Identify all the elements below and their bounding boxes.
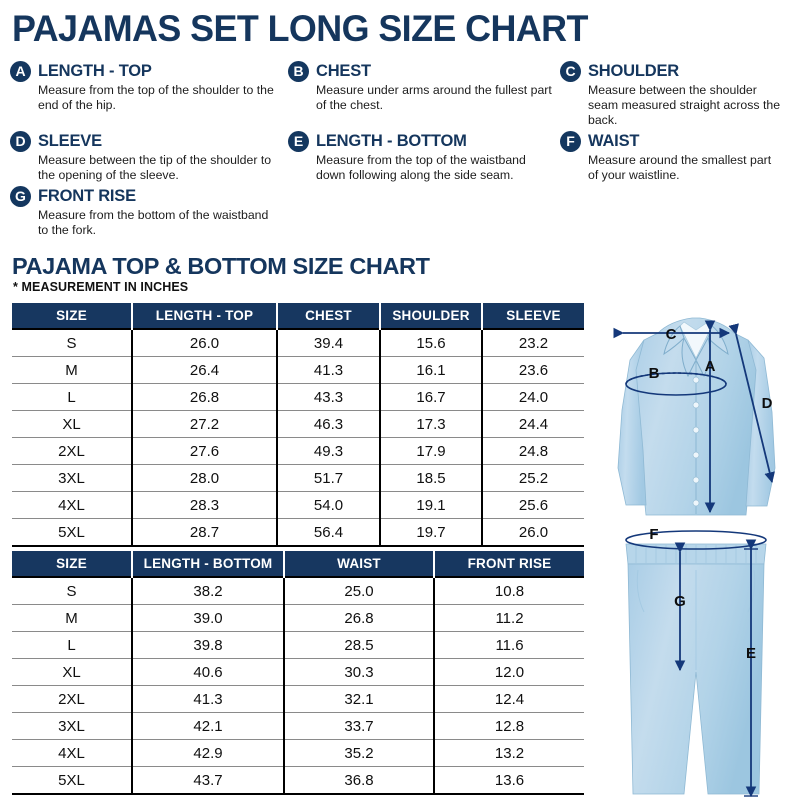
cell-shoulder: 17.3 [380,411,482,438]
cell-front-rise: 12.0 [434,659,584,686]
cell-length: 27.2 [132,411,277,438]
cell-sleeve: 24.0 [482,384,584,411]
table-row: 3XL 42.1 33.7 12.8 [12,713,584,740]
legend-head: D SLEEVE [10,130,280,152]
cell-chest: 54.0 [277,492,380,519]
column-header: SHOULDER [380,303,482,329]
cell-waist: 35.2 [284,740,434,767]
badge-f-icon: F [560,131,581,152]
cell-size: M [12,605,132,632]
cell-front-rise: 11.2 [434,605,584,632]
cell-size: XL [12,659,132,686]
table-body: S 38.2 25.0 10.8 M 39.0 26.8 11.2 L 39.8… [12,577,584,794]
legend-title: LENGTH - BOTTOM [316,132,467,151]
badge-c-icon: C [560,61,581,82]
column-header: LENGTH - TOP [132,303,277,329]
column-header: SIZE [12,551,132,577]
dim-label-c: C [666,326,677,343]
legend-row: D SLEEVE Measure between the tip of the … [10,130,790,183]
column-header: FRONT RISE [434,551,584,577]
table-row: M 26.4 41.3 16.1 23.6 [12,357,584,384]
table-row: 5XL 43.7 36.8 13.6 [12,767,584,795]
section-subtitle: * MEASUREMENT IN INCHES [13,280,188,294]
cell-sleeve: 24.4 [482,411,584,438]
cell-size: 4XL [12,492,132,519]
cell-front-rise: 13.2 [434,740,584,767]
legend-head: F WAIST [560,130,782,152]
legend-title: LENGTH - TOP [38,62,152,81]
cell-length: 28.7 [132,519,277,547]
table-row: M 39.0 26.8 11.2 [12,605,584,632]
cell-waist: 25.0 [284,577,434,605]
dim-label-e: E [746,645,756,662]
cell-shoulder: 19.7 [380,519,482,547]
legend-desc: Measure between the tip of the shoulder … [38,153,280,183]
legend-item-a: A LENGTH - TOP Measure from the top of t… [10,60,288,128]
cell-length: 26.4 [132,357,277,384]
cell-shoulder: 16.7 [380,384,482,411]
legend-head: G FRONT RISE [10,185,280,207]
column-header: CHEST [277,303,380,329]
cell-length: 28.0 [132,465,277,492]
cell-size: 3XL [12,465,132,492]
cell-size: 5XL [12,767,132,795]
table-row: 4XL 28.3 54.0 19.1 25.6 [12,492,584,519]
cell-shoulder: 15.6 [380,329,482,357]
legend-item-b: B CHEST Measure under arms around the fu… [288,60,560,128]
measurement-legend: A LENGTH - TOP Measure from the top of t… [10,60,790,240]
cell-length: 27.6 [132,438,277,465]
cell-front-rise: 13.6 [434,767,584,795]
dim-label-g: G [674,593,686,610]
legend-desc: Measure around the smallest part of your… [588,153,782,183]
cell-size: 3XL [12,713,132,740]
cell-size: XL [12,411,132,438]
badge-e-icon: E [288,131,309,152]
cell-length-bottom: 42.9 [132,740,284,767]
legend-item-g: G FRONT RISE Measure from the bottom of … [10,185,288,238]
cell-size: 4XL [12,740,132,767]
legend-title: SHOULDER [588,62,679,81]
size-chart-page: PAJAMAS SET LONG SIZE CHART A LENGTH - T… [0,0,800,800]
pajama-bottom-graphic: F G E [626,526,766,796]
cell-length-bottom: 40.6 [132,659,284,686]
table-row: 3XL 28.0 51.7 18.5 25.2 [12,465,584,492]
cell-length-bottom: 39.8 [132,632,284,659]
pajama-top-size-table: SIZE LENGTH - TOP CHEST SHOULDER SLEEVE … [12,303,584,547]
table-body: S 26.0 39.4 15.6 23.2 M 26.4 41.3 16.1 2… [12,329,584,546]
legend-title: SLEEVE [38,132,102,151]
cell-shoulder: 16.1 [380,357,482,384]
dim-label-d: D [762,395,773,412]
legend-row: A LENGTH - TOP Measure from the top of t… [10,60,790,128]
section-title: PAJAMA TOP & BOTTOM SIZE CHART [12,253,430,280]
cell-chest: 49.3 [277,438,380,465]
pajama-bottom-size-table: SIZE LENGTH - BOTTOM WAIST FRONT RISE S … [12,551,584,795]
cell-chest: 39.4 [277,329,380,357]
table-row: S 26.0 39.4 15.6 23.2 [12,329,584,357]
cell-size: 5XL [12,519,132,547]
table-header-row: SIZE LENGTH - TOP CHEST SHOULDER SLEEVE [12,303,584,329]
legend-head: E LENGTH - BOTTOM [288,130,552,152]
cell-waist: 26.8 [284,605,434,632]
legend-title: FRONT RISE [38,187,136,206]
table-head: SIZE LENGTH - TOP CHEST SHOULDER SLEEVE [12,303,584,329]
legend-desc: Measure from the bottom of the waistband… [38,208,280,238]
legend-head: C SHOULDER [560,60,782,82]
cell-sleeve: 25.2 [482,465,584,492]
legend-row: G FRONT RISE Measure from the bottom of … [10,185,790,238]
table-row: 5XL 28.7 56.4 19.7 26.0 [12,519,584,547]
cell-length-bottom: 41.3 [132,686,284,713]
cell-chest: 56.4 [277,519,380,547]
cell-size: 2XL [12,438,132,465]
column-header: SIZE [12,303,132,329]
cell-size: S [12,577,132,605]
cell-sleeve: 23.6 [482,357,584,384]
badge-a-icon: A [10,61,31,82]
legend-item-e: E LENGTH - BOTTOM Measure from the top o… [288,130,560,183]
legend-head: A LENGTH - TOP [10,60,280,82]
cell-length: 26.0 [132,329,277,357]
cell-size: L [12,384,132,411]
column-header: SLEEVE [482,303,584,329]
table-row: 2XL 41.3 32.1 12.4 [12,686,584,713]
page-title: PAJAMAS SET LONG SIZE CHART [12,8,588,50]
table-row: 4XL 42.9 35.2 13.2 [12,740,584,767]
cell-sleeve: 23.2 [482,329,584,357]
badge-d-icon: D [10,131,31,152]
dim-label-f: F [649,526,658,543]
legend-head: B CHEST [288,60,552,82]
cell-chest: 51.7 [277,465,380,492]
cell-waist: 30.3 [284,659,434,686]
dim-label-a: A [705,358,716,375]
legend-item-f: F WAIST Measure around the smallest part… [560,130,790,183]
pajama-illustration: C A B D [596,300,796,798]
cell-sleeve: 25.6 [482,492,584,519]
cell-waist: 28.5 [284,632,434,659]
cell-length: 26.8 [132,384,277,411]
cell-chest: 41.3 [277,357,380,384]
legend-title: CHEST [316,62,371,81]
cell-size: L [12,632,132,659]
cell-sleeve: 26.0 [482,519,584,547]
table-row: XL 40.6 30.3 12.0 [12,659,584,686]
legend-desc: Measure between the shoulder seam measur… [588,83,782,128]
table-head: SIZE LENGTH - BOTTOM WAIST FRONT RISE [12,551,584,577]
legend-item-d: D SLEEVE Measure between the tip of the … [10,130,288,183]
dim-label-b: B [649,365,660,382]
cell-length-bottom: 43.7 [132,767,284,795]
cell-size: M [12,357,132,384]
cell-sleeve: 24.8 [482,438,584,465]
cell-waist: 33.7 [284,713,434,740]
legend-desc: Measure under arms around the fullest pa… [316,83,552,113]
cell-length: 28.3 [132,492,277,519]
badge-g-icon: G [10,186,31,207]
cell-front-rise: 12.8 [434,713,584,740]
cell-length-bottom: 39.0 [132,605,284,632]
cell-length-bottom: 42.1 [132,713,284,740]
cell-length-bottom: 38.2 [132,577,284,605]
table-row: 2XL 27.6 49.3 17.9 24.8 [12,438,584,465]
table-row: XL 27.2 46.3 17.3 24.4 [12,411,584,438]
cell-shoulder: 19.1 [380,492,482,519]
table-row: L 26.8 43.3 16.7 24.0 [12,384,584,411]
pajama-top-graphic: C A B D [618,318,775,515]
cell-waist: 36.8 [284,767,434,795]
cell-size: 2XL [12,686,132,713]
cell-size: S [12,329,132,357]
cell-shoulder: 18.5 [380,465,482,492]
cell-chest: 46.3 [277,411,380,438]
cell-shoulder: 17.9 [380,438,482,465]
cell-chest: 43.3 [277,384,380,411]
legend-spacer [288,185,560,238]
table-row: L 39.8 28.5 11.6 [12,632,584,659]
table-header-row: SIZE LENGTH - BOTTOM WAIST FRONT RISE [12,551,584,577]
column-header: LENGTH - BOTTOM [132,551,284,577]
badge-b-icon: B [288,61,309,82]
legend-spacer [560,185,790,238]
legend-title: WAIST [588,132,639,151]
legend-desc: Measure from the top of the shoulder to … [38,83,280,113]
cell-front-rise: 11.6 [434,632,584,659]
cell-front-rise: 10.8 [434,577,584,605]
legend-item-c: C SHOULDER Measure between the shoulder … [560,60,790,128]
legend-desc: Measure from the top of the waistband do… [316,153,552,183]
table-row: S 38.2 25.0 10.8 [12,577,584,605]
column-header: WAIST [284,551,434,577]
cell-waist: 32.1 [284,686,434,713]
cell-front-rise: 12.4 [434,686,584,713]
